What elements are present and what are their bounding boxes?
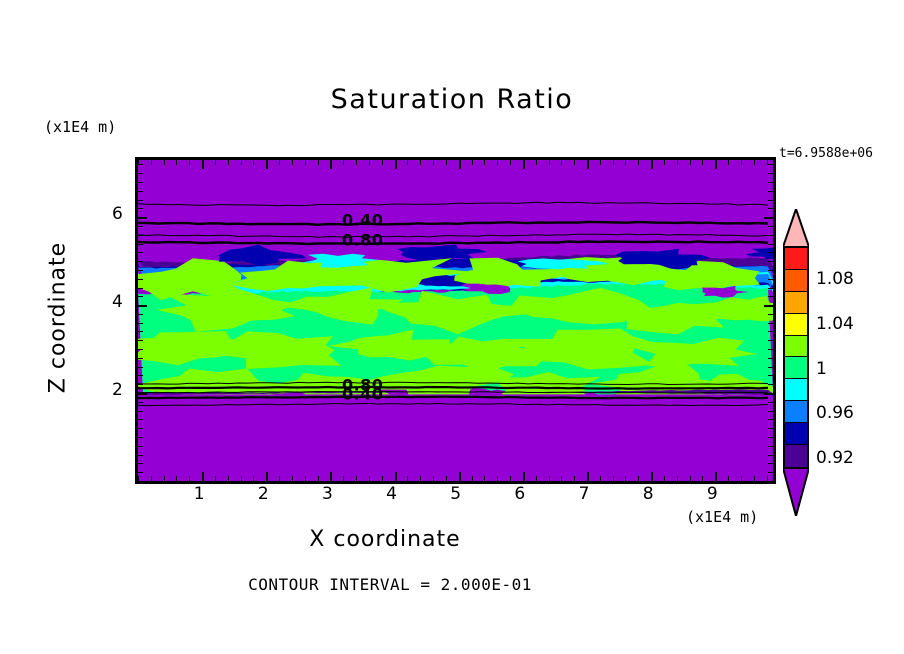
x-tick-major <box>715 160 717 169</box>
x-tick-minor <box>638 160 639 165</box>
x-tick-minor <box>497 476 498 481</box>
x-tick-major <box>523 472 525 481</box>
x-tick-minor <box>446 476 447 481</box>
x-tick-minor <box>574 160 575 165</box>
x-tick-minor <box>574 476 575 481</box>
y-tick-minor <box>138 437 143 438</box>
x-tick-minor <box>228 160 229 165</box>
x-tick-minor <box>241 160 242 165</box>
x-tick-minor <box>690 160 691 165</box>
x-tick-label: 8 <box>643 484 654 504</box>
y-tick-minor <box>138 191 143 192</box>
x-tick-minor <box>600 160 601 165</box>
colorbar-tick-label: 0.96 <box>816 403 854 423</box>
x-tick-major <box>651 472 653 481</box>
x-tick-minor <box>484 160 485 165</box>
y-tick-minor <box>138 411 143 412</box>
x-tick-minor <box>356 476 357 481</box>
y-tick-minor <box>138 173 143 174</box>
x-tick-minor <box>600 476 601 481</box>
contour-label: 0.80 <box>342 230 383 249</box>
x-tick-minor <box>176 160 177 165</box>
colorbar-bottom-arrow <box>783 468 809 516</box>
page-title: Saturation Ratio <box>0 84 904 115</box>
x-tick-major <box>395 160 397 169</box>
colorbar-top-arrow <box>783 209 809 247</box>
y-tick-minor <box>138 296 143 297</box>
x-tick-minor <box>305 160 306 165</box>
y-tick-major <box>138 217 147 219</box>
y-tick-minor <box>138 340 143 341</box>
colorbar-band <box>785 292 807 314</box>
x-tick-minor <box>446 160 447 165</box>
y-tick-minor <box>768 411 773 412</box>
x-tick-minor <box>472 476 473 481</box>
x-tick-minor <box>664 476 665 481</box>
x-tick-minor <box>561 476 562 481</box>
x-tick-minor <box>241 476 242 481</box>
y-tick-minor <box>768 279 773 280</box>
x-tick-minor <box>318 476 319 481</box>
y-tick-minor <box>768 244 773 245</box>
y-tick-minor <box>138 472 143 473</box>
y-tick-minor <box>138 481 143 482</box>
y-tick-minor <box>768 288 773 289</box>
x-tick-minor <box>472 160 473 165</box>
x-tick-label: 7 <box>579 484 590 504</box>
x-tick-minor <box>510 476 511 481</box>
x-tick-minor <box>677 160 678 165</box>
x-tick-label: 5 <box>450 484 461 504</box>
y-tick-minor <box>768 200 773 201</box>
y-tick-minor <box>138 323 143 324</box>
x-tick-minor <box>677 476 678 481</box>
contour-label: 0.40 <box>342 211 383 230</box>
x-tick-minor <box>420 160 421 165</box>
colorbar-band <box>785 248 807 270</box>
y-axis-unit-label: (x1E4 m) <box>44 118 116 136</box>
x-tick-major <box>330 160 332 169</box>
y-tick-minor <box>768 419 773 420</box>
x-tick-label: 6 <box>514 484 525 504</box>
x-tick-minor <box>536 476 537 481</box>
y-tick-minor <box>768 428 773 429</box>
x-tick-minor <box>625 160 626 165</box>
y-tick-minor <box>768 349 773 350</box>
x-tick-minor <box>484 476 485 481</box>
y-tick-minor <box>768 270 773 271</box>
y-tick-minor <box>768 314 773 315</box>
y-tick-minor <box>138 358 143 359</box>
x-tick-label: 2 <box>258 484 269 504</box>
colorbar-band <box>785 379 807 401</box>
x-tick-minor <box>382 476 383 481</box>
y-tick-minor <box>768 164 773 165</box>
x-tick-minor <box>549 160 550 165</box>
x-tick-minor <box>292 476 293 481</box>
y-tick-minor <box>768 323 773 324</box>
y-tick-major <box>764 217 773 219</box>
colorbar-band <box>785 423 807 445</box>
y-tick-minor <box>138 455 143 456</box>
y-tick-minor <box>768 173 773 174</box>
y-tick-minor <box>138 200 143 201</box>
x-tick-minor <box>189 476 190 481</box>
colorbar-tick-label: 1.04 <box>816 314 854 334</box>
x-tick-major <box>587 160 589 169</box>
y-tick-minor <box>768 384 773 385</box>
x-tick-major <box>523 160 525 169</box>
x-tick-minor <box>343 160 344 165</box>
y-tick-minor <box>138 252 143 253</box>
y-tick-minor <box>138 384 143 385</box>
time-annotation: t=6.9588e+06 <box>779 146 873 161</box>
x-axis-title: X coordinate <box>0 527 770 552</box>
x-tick-minor <box>497 160 498 165</box>
x-tick-minor <box>151 476 152 481</box>
contour-label: 0.40 <box>342 385 383 404</box>
y-tick-minor <box>138 226 143 227</box>
x-tick-major <box>395 472 397 481</box>
y-tick-major <box>764 393 773 395</box>
colorbar-band <box>785 314 807 336</box>
y-tick-minor <box>768 296 773 297</box>
y-tick-minor <box>138 367 143 368</box>
x-tick-minor <box>741 160 742 165</box>
colorbar-band <box>785 270 807 292</box>
x-tick-major <box>330 472 332 481</box>
y-tick-minor <box>138 375 143 376</box>
x-tick-label: 3 <box>322 484 333 504</box>
colorbar-tick-label: 1.08 <box>816 269 854 289</box>
x-tick-major <box>202 160 204 169</box>
y-tick-minor <box>138 419 143 420</box>
x-tick-minor <box>728 476 729 481</box>
y-tick-minor <box>138 331 143 332</box>
y-tick-major <box>138 305 147 307</box>
x-tick-minor <box>253 476 254 481</box>
x-axis-unit-label: (x1E4 m) <box>686 508 758 526</box>
x-tick-minor <box>407 476 408 481</box>
x-tick-label: 9 <box>707 484 718 504</box>
y-tick-minor <box>138 261 143 262</box>
x-tick-label: 4 <box>386 484 397 504</box>
x-tick-minor <box>151 160 152 165</box>
contour-field <box>138 160 773 481</box>
x-tick-major <box>651 160 653 169</box>
x-tick-minor <box>253 160 254 165</box>
x-tick-minor <box>754 160 755 165</box>
y-tick-minor <box>138 244 143 245</box>
y-tick-minor <box>768 367 773 368</box>
x-tick-minor <box>741 476 742 481</box>
x-tick-major <box>202 472 204 481</box>
x-tick-minor <box>189 160 190 165</box>
y-tick-minor <box>138 235 143 236</box>
contour-field-svg <box>138 160 773 481</box>
y-tick-minor <box>768 463 773 464</box>
x-tick-minor <box>728 160 729 165</box>
y-tick-minor <box>768 472 773 473</box>
x-tick-minor <box>613 476 614 481</box>
x-tick-minor <box>664 160 665 165</box>
y-tick-minor <box>138 428 143 429</box>
x-tick-minor <box>164 476 165 481</box>
y-tick-minor <box>138 288 143 289</box>
y-tick-label: 6 <box>112 204 123 224</box>
x-tick-minor <box>279 476 280 481</box>
y-tick-minor <box>768 191 773 192</box>
x-tick-minor <box>702 476 703 481</box>
colorbar-band <box>785 357 807 379</box>
colorbar-tick-label: 0.92 <box>816 448 854 468</box>
contour-interval-note: CONTOUR INTERVAL = 2.000E-01 <box>0 575 780 594</box>
x-tick-major <box>715 472 717 481</box>
x-tick-minor <box>407 160 408 165</box>
x-tick-minor <box>318 160 319 165</box>
colorbar-band <box>785 401 807 423</box>
x-tick-minor <box>690 476 691 481</box>
x-tick-minor <box>754 476 755 481</box>
x-tick-minor <box>536 160 537 165</box>
x-tick-minor <box>420 476 421 481</box>
y-tick-minor <box>768 375 773 376</box>
x-tick-minor <box>433 476 434 481</box>
x-tick-label: 1 <box>194 484 205 504</box>
x-tick-minor <box>292 160 293 165</box>
x-tick-minor <box>510 160 511 165</box>
y-tick-minor <box>768 261 773 262</box>
y-tick-minor <box>138 446 143 447</box>
x-tick-minor <box>613 160 614 165</box>
y-tick-minor <box>138 164 143 165</box>
x-tick-minor <box>164 160 165 165</box>
colorbar-band <box>785 336 807 358</box>
x-tick-minor <box>228 476 229 481</box>
y-tick-minor <box>768 340 773 341</box>
y-tick-label: 2 <box>112 380 123 400</box>
y-tick-minor <box>768 331 773 332</box>
x-tick-minor <box>343 476 344 481</box>
y-tick-minor <box>138 463 143 464</box>
x-tick-major <box>587 472 589 481</box>
y-tick-minor <box>138 314 143 315</box>
y-tick-minor <box>768 235 773 236</box>
y-tick-minor <box>138 279 143 280</box>
y-tick-minor <box>768 226 773 227</box>
x-tick-minor <box>356 160 357 165</box>
colorbar-tick-label: 1 <box>816 359 827 379</box>
x-tick-minor <box>433 160 434 165</box>
x-tick-minor <box>549 476 550 481</box>
contour-plot-area <box>135 157 776 484</box>
y-tick-minor <box>138 270 143 271</box>
y-axis-title: Z coordinate <box>46 198 71 438</box>
y-tick-minor <box>768 252 773 253</box>
x-tick-minor <box>215 476 216 481</box>
y-tick-minor <box>768 402 773 403</box>
y-tick-minor <box>138 182 143 183</box>
x-tick-minor <box>702 160 703 165</box>
y-tick-minor <box>768 358 773 359</box>
y-tick-minor <box>138 349 143 350</box>
x-tick-minor <box>215 160 216 165</box>
y-tick-minor <box>768 455 773 456</box>
y-tick-minor <box>138 208 143 209</box>
y-tick-minor <box>768 437 773 438</box>
x-tick-minor <box>176 476 177 481</box>
x-tick-minor <box>369 476 370 481</box>
x-tick-minor <box>638 476 639 481</box>
colorbar[interactable] <box>783 246 809 469</box>
y-tick-major <box>138 393 147 395</box>
y-tick-minor <box>768 446 773 447</box>
y-tick-minor <box>768 182 773 183</box>
x-tick-minor <box>369 160 370 165</box>
x-tick-minor <box>561 160 562 165</box>
y-tick-minor <box>768 208 773 209</box>
x-tick-major <box>266 472 268 481</box>
x-tick-minor <box>279 160 280 165</box>
y-tick-major <box>764 305 773 307</box>
x-tick-minor <box>305 476 306 481</box>
x-tick-major <box>266 160 268 169</box>
x-tick-minor <box>625 476 626 481</box>
y-tick-minor <box>768 481 773 482</box>
x-tick-major <box>459 472 461 481</box>
y-tick-minor <box>138 402 143 403</box>
x-tick-minor <box>382 160 383 165</box>
y-tick-label: 4 <box>112 292 123 312</box>
x-tick-major <box>459 160 461 169</box>
colorbar-band <box>785 445 807 467</box>
